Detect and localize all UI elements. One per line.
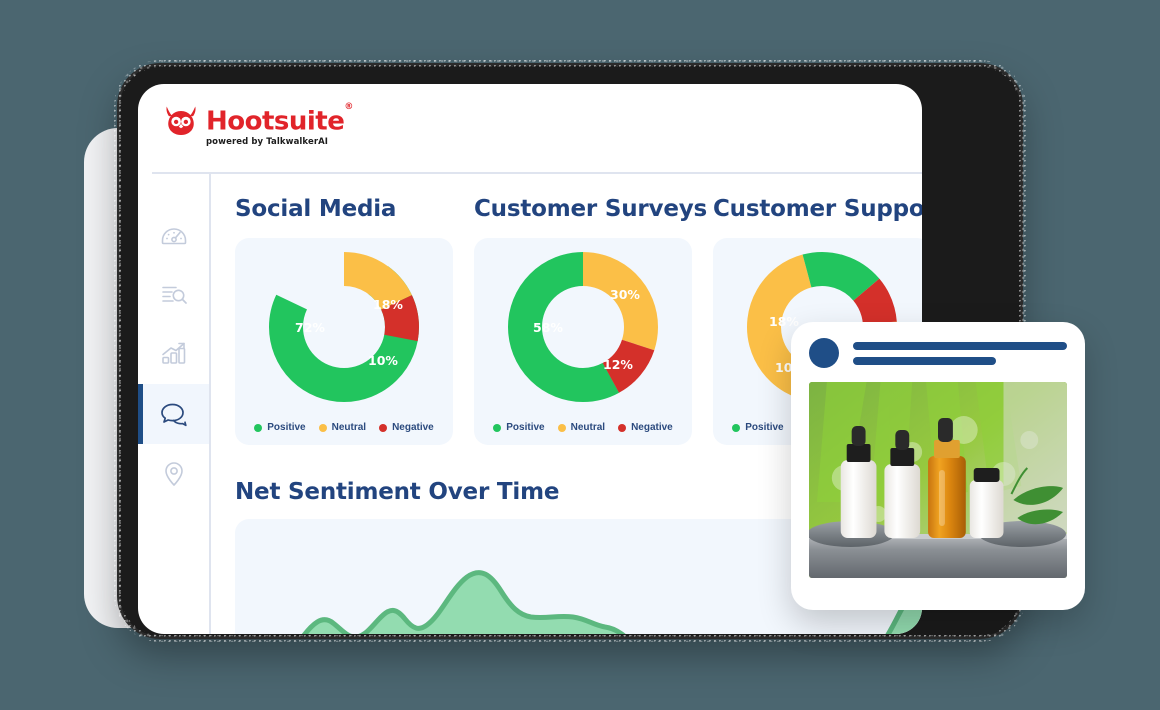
- registered-mark: ®: [344, 102, 353, 112]
- legend-dot-positive: [254, 424, 262, 432]
- slice-value-negative: 12%: [603, 357, 633, 372]
- legend-item: Positive: [493, 422, 544, 433]
- product-photo-dropper-bottles: [809, 382, 1067, 578]
- legend-label-positive: Positive: [267, 422, 305, 433]
- page-title-customer-surveys: Customer Surveys: [474, 196, 692, 222]
- legend-item: Positive: [732, 422, 783, 433]
- sidebar-item-conversations[interactable]: [138, 384, 209, 444]
- legend-customer-surveys: Positive Neutral Negative: [474, 422, 692, 433]
- post-image: [809, 382, 1067, 578]
- legend-item: Negative: [379, 422, 434, 433]
- brand-name: Hootsuite®: [206, 105, 353, 135]
- avatar: [809, 338, 839, 368]
- legend-social-media: Positive Neutral Negative: [235, 422, 453, 433]
- page-title-social-media: Social Media: [235, 196, 453, 222]
- sidebar-item-locations[interactable]: [138, 444, 209, 504]
- legend-dot-neutral: [558, 424, 566, 432]
- legend-label-negative: Negative: [631, 422, 673, 433]
- donut-card-customer-surveys: 58% 30% 12% Positive: [474, 238, 692, 445]
- donut-chart-social-media[interactable]: 72% 18% 10%: [264, 247, 424, 407]
- sentiment-card-customer-surveys: Customer Surveys: [474, 196, 692, 445]
- app-header: Hootsuite® powered by TalkwalkerAI: [138, 84, 922, 172]
- legend-dot-negative: [618, 424, 626, 432]
- post-placeholder-lines: [853, 342, 1067, 365]
- sidebar-nav: [138, 174, 211, 634]
- sidebar-item-analytics[interactable]: [138, 324, 209, 384]
- sidebar-item-dashboard[interactable]: [138, 204, 209, 264]
- bar-chart-trend-icon: [159, 339, 189, 369]
- post-header: [809, 338, 1067, 368]
- legend-item: Neutral: [319, 422, 366, 433]
- floating-post-card[interactable]: [791, 322, 1085, 610]
- legend-label-neutral: Neutral: [571, 422, 605, 433]
- sidebar-item-search[interactable]: [138, 264, 209, 324]
- legend-label-positive: Positive: [745, 422, 783, 433]
- legend-dot-positive: [493, 424, 501, 432]
- placeholder-line-1: [853, 342, 1067, 350]
- legend-item: Negative: [618, 422, 673, 433]
- speech-bubbles-icon: [159, 399, 189, 429]
- slice-value-positive: 18%: [769, 314, 799, 329]
- legend-dot-positive: [732, 424, 740, 432]
- legend-label-positive: Positive: [506, 422, 544, 433]
- page-title-customer-support: Customer Support: [713, 196, 922, 222]
- search-list-icon: [159, 279, 189, 309]
- legend-label-negative: Negative: [392, 422, 434, 433]
- legend-dot-neutral: [319, 424, 327, 432]
- slice-value-positive: 58%: [533, 320, 563, 335]
- brand-logo[interactable]: Hootsuite® powered by TalkwalkerAI: [163, 103, 353, 147]
- donut-card-social-media: 72% 18% 10% Positive: [235, 238, 453, 445]
- legend-label-neutral: Neutral: [332, 422, 366, 433]
- legend-dot-negative: [379, 424, 387, 432]
- gauge-icon: [159, 219, 189, 249]
- slice-value-neutral: 18%: [373, 297, 403, 312]
- slice-value-positive: 72%: [295, 320, 325, 335]
- legend-item: Neutral: [558, 422, 605, 433]
- slice-value-neutral: 30%: [610, 287, 640, 302]
- brand-tagline: powered by TalkwalkerAI: [206, 137, 353, 147]
- location-pin-icon: [159, 459, 189, 489]
- sentiment-card-social-media: Social Media 72%: [235, 196, 453, 445]
- donut-chart-customer-surveys[interactable]: 58% 30% 12%: [503, 247, 663, 407]
- screenshot-stage: Hootsuite® powered by TalkwalkerAI: [0, 0, 1160, 710]
- slice-value-negative: 10%: [368, 353, 398, 368]
- legend-item: Positive: [254, 422, 305, 433]
- placeholder-line-2: [853, 357, 996, 365]
- owl-icon: [163, 103, 199, 137]
